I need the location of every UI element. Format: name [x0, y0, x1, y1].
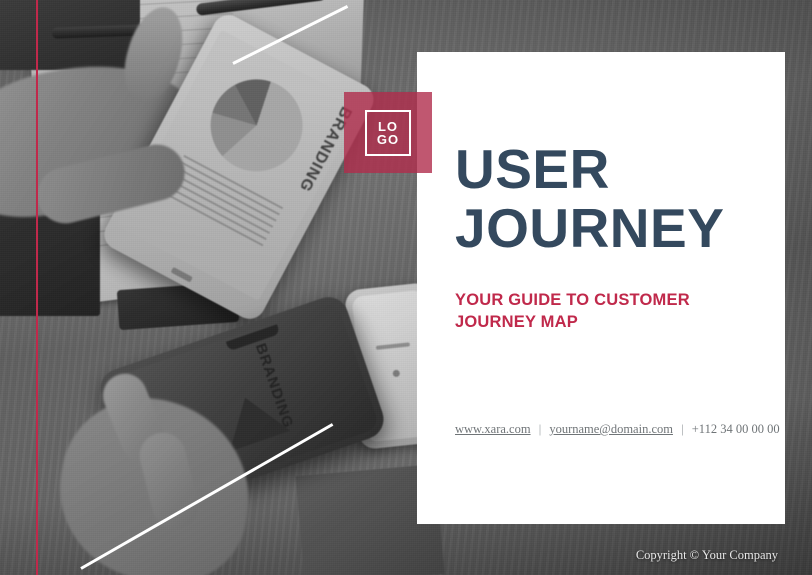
contact-line: www.xara.com | yourname@domain.com | +11…	[455, 422, 780, 437]
title-line-1: USER	[455, 138, 610, 200]
presentation-cover-slide: BRANDING BRANDING	[0, 0, 812, 575]
logo-badge[interactable]: LO GO	[344, 92, 432, 173]
contact-separator-1: |	[534, 422, 547, 436]
website-link[interactable]: www.xara.com	[455, 422, 531, 436]
photo-pie-chart	[194, 63, 318, 187]
email-link[interactable]: yourname@domain.com	[549, 422, 673, 436]
contact-separator-2: |	[676, 422, 689, 436]
content-panel: USER JOURNEY YOUR GUIDE TO CUSTOMER JOUR…	[417, 52, 785, 524]
page-subtitle: YOUR GUIDE TO CUSTOMER JOURNEY MAP	[455, 289, 725, 334]
photo-phone-upper-home	[171, 267, 193, 283]
copyright-footer: Copyright © Your Company	[636, 548, 778, 563]
title-line-2: JOURNEY	[455, 199, 785, 258]
phone-number: +112 34 00 00 00	[692, 422, 780, 436]
logo-icon: LO GO	[365, 110, 411, 156]
logo-line-1: LO	[378, 120, 398, 133]
logo-line-2: GO	[377, 133, 399, 146]
page-title: USER JOURNEY	[455, 140, 785, 259]
vertical-accent-line	[36, 0, 38, 575]
